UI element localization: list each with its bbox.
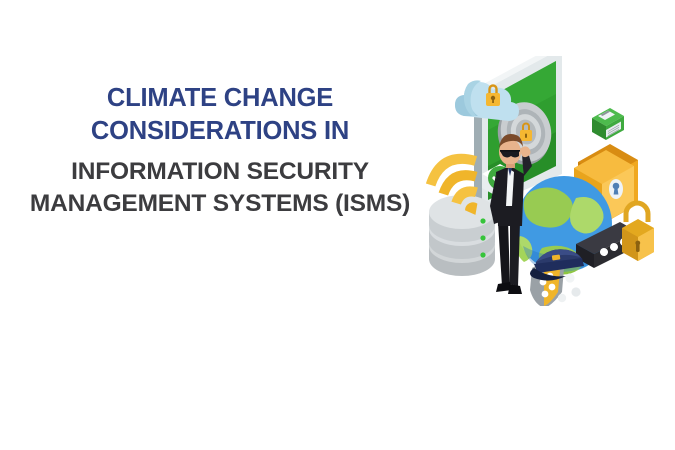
isometric-cybersecurity-illustration	[424, 56, 672, 306]
page-title: CLIMATE CHANGE CONSIDERATIONS IN INFORMA…	[0, 82, 440, 219]
title-line-2: CONSIDERATIONS IN	[0, 115, 440, 148]
padlock-icon	[622, 203, 654, 261]
banner-canvas: CLIMATE CHANGE CONSIDERATIONS IN INFORMA…	[0, 0, 675, 450]
title-line-3: INFORMATION SECURITY	[0, 156, 440, 187]
title-line-4: MANAGEMENT SYSTEMS (ISMS)	[0, 188, 440, 219]
server-stack-icon	[429, 195, 495, 276]
floppy-disk-icon	[592, 108, 624, 140]
title-line-1: CLIMATE CHANGE	[0, 82, 440, 115]
